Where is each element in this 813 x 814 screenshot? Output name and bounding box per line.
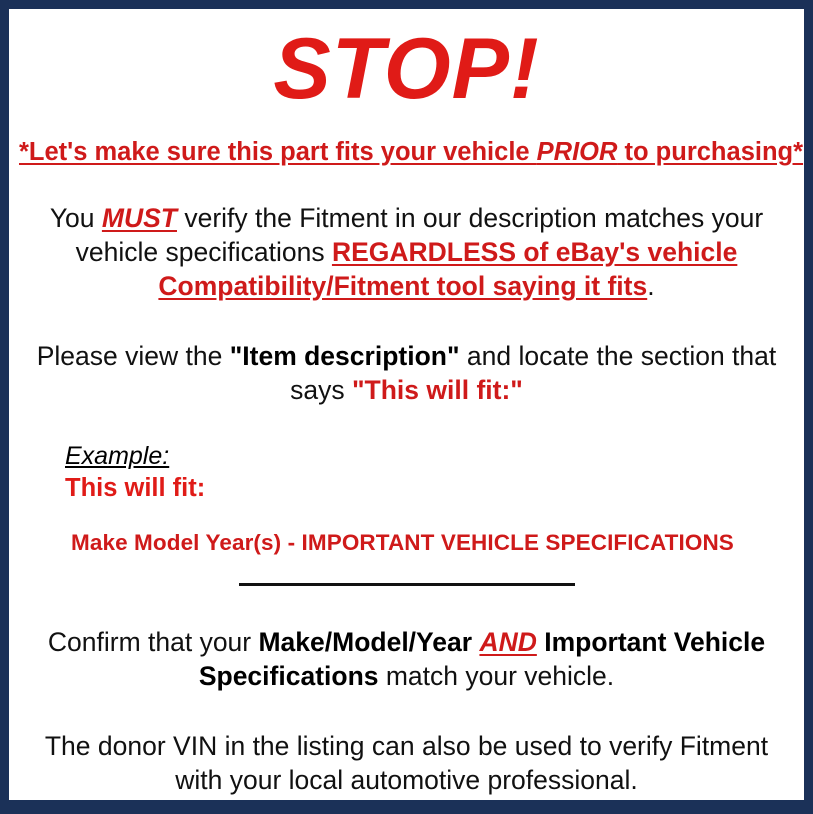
divider-rule [239, 583, 575, 586]
confirm-text-2: match your vehicle. [379, 661, 615, 691]
example-this-will-fit: This will fit: [65, 473, 794, 503]
this-will-fit-quote: "This will fit:" [352, 375, 523, 405]
divider [19, 583, 794, 597]
and-emphasis: AND [479, 627, 536, 657]
paragraph-donor-vin: The donor VIN in the listing can also be… [19, 729, 794, 797]
must-text-3: . [647, 271, 654, 301]
fitment-notice-frame: STOP! *Let's make sure this part fits yo… [0, 0, 813, 814]
must-text-1: You [50, 203, 102, 233]
example-spec-line: Make Model Year(s) - IMPORTANT VEHICLE S… [65, 529, 794, 557]
paragraph-item-description: Please view the "Item description" and l… [19, 339, 794, 407]
fitment-subtitle: *Let's make sure this part fits your veh… [19, 137, 794, 167]
subtitle-part-2: to purchasing* [617, 138, 803, 166]
example-block: Example: This will fit: Make Model Year(… [19, 441, 794, 557]
itemdesc-text-1: Please view the [37, 341, 230, 371]
subtitle-prior-emphasis: PRIOR [537, 138, 618, 166]
stop-heading: STOP! [19, 9, 794, 115]
make-model-year-emphasis: Make/Model/Year [258, 627, 472, 657]
example-label-row: Example: [65, 441, 794, 471]
paragraph-confirm: Confirm that your Make/Model/Year AND Im… [19, 625, 794, 693]
must-emphasis: MUST [102, 203, 177, 233]
subtitle-part-1: *Let's make sure this part fits your veh… [19, 138, 537, 166]
fitment-notice-body: STOP! *Let's make sure this part fits yo… [9, 9, 804, 800]
example-label: Example: [65, 441, 169, 471]
confirm-text-1: Confirm that your [48, 627, 259, 657]
paragraph-must-verify: You MUST verify the Fitment in our descr… [19, 201, 794, 303]
item-description-emphasis: "Item description" [230, 341, 460, 371]
